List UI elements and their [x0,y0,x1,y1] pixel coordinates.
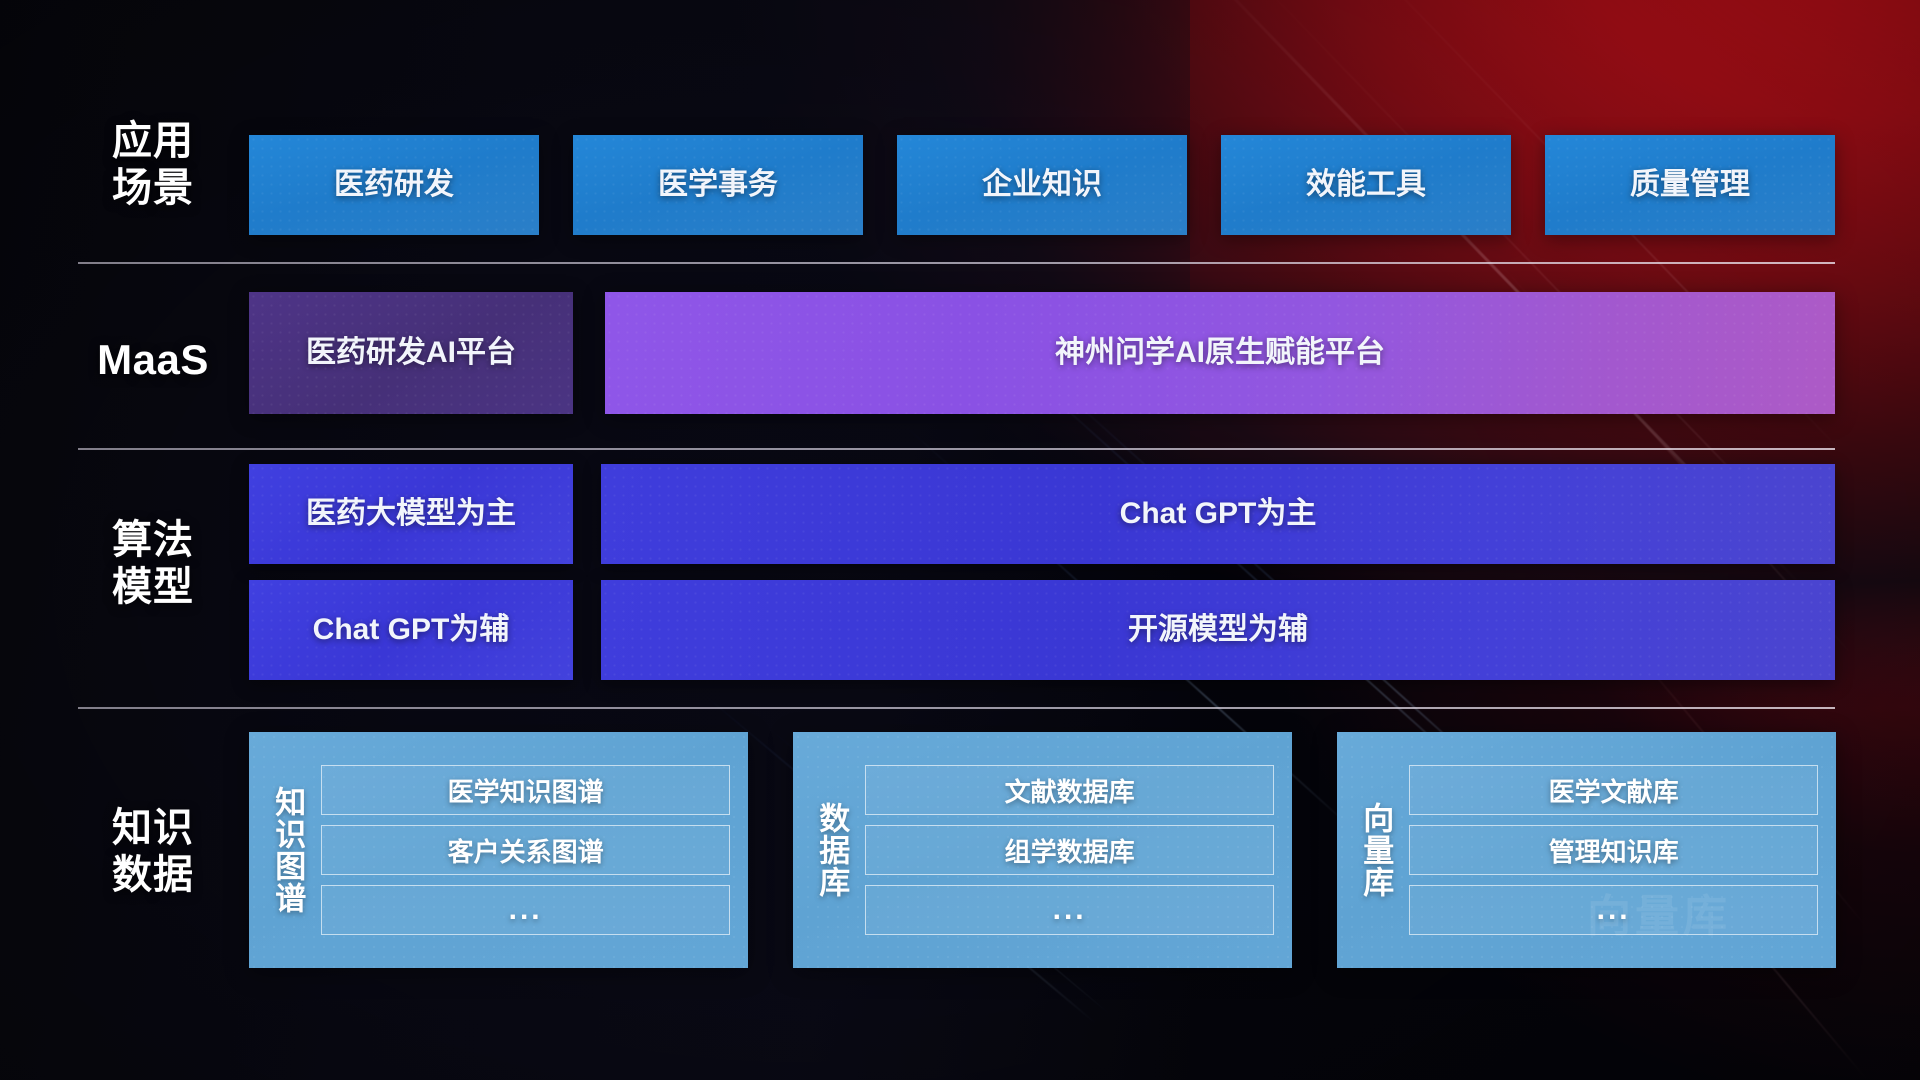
maas-card-pharma-platform[interactable]: 医药研发AI平台 [249,292,573,414]
algorithm-card-opensource-secondary-label: 开源模型为辅 [1128,612,1308,648]
row-label-maas: MaaS [78,335,228,385]
scenario-card-3[interactable]: 企业知识 [897,135,1187,235]
scenario-card-5-label: 质量管理 [1630,167,1750,203]
scenario-card-2[interactable]: 医学事务 [573,135,863,235]
maas-card-pharma-platform-label: 医药研发AI平台 [306,335,516,371]
scenario-card-3-label: 企业知识 [982,167,1102,203]
knowledge-item-database-1[interactable]: 文献数据库 [865,765,1274,815]
algorithm-card-chatgpt-primary-label: Chat GPT为主 [1120,496,1317,532]
knowledge-item-vector-1[interactable]: 医学文献库 [1409,765,1818,815]
divider-algorithm-knowledge [78,707,1835,709]
scenario-card-2-label: 医学事务 [658,167,778,203]
algorithm-card-opensource-secondary[interactable]: 开源模型为辅 [601,580,1835,680]
scenario-card-4[interactable]: 效能工具 [1221,135,1511,235]
knowledge-panel-vector[interactable]: 向量库 向量库 医学文献库 管理知识库 ... [1337,732,1836,968]
row-label-knowledge: 知识 数据 [78,805,228,899]
knowledge-item-vector-2[interactable]: 管理知识库 [1409,825,1818,875]
algorithm-card-pharma-model-label: 医药大模型为主 [306,496,516,532]
row-label-algorithm: 算法 模型 [78,517,228,611]
knowledge-panel-graph[interactable]: 知识图谱 医学知识图谱 客户关系图谱 ... [249,732,748,968]
maas-card-shenzhou-platform-label: 神州问学AI原生赋能平台 [1055,335,1385,371]
knowledge-item-database-3[interactable]: ... [865,885,1274,935]
scenario-card-1-label: 医药研发 [334,167,454,203]
divider-scenario-maas [78,262,1835,264]
knowledge-item-database-2[interactable]: 组学数据库 [865,825,1274,875]
algorithm-card-chatgpt-primary[interactable]: Chat GPT为主 [601,464,1835,564]
architecture-diagram: 应用 场景 医药研发 医学事务 企业知识 效能工具 质量管理 MaaS 医药研发… [0,0,1920,1080]
knowledge-panel-database-items: 文献数据库 组学数据库 ... [865,765,1274,935]
scenario-card-1[interactable]: 医药研发 [249,135,539,235]
knowledge-panel-vector-items: 医学文献库 管理知识库 ... [1409,765,1818,935]
scenario-card-4-label: 效能工具 [1306,167,1426,203]
knowledge-item-vector-3[interactable]: ... [1409,885,1818,935]
knowledge-panel-database-title: 数据库 [815,755,847,945]
maas-card-shenzhou-platform[interactable]: 神州问学AI原生赋能平台 [605,292,1835,414]
knowledge-item-graph-1[interactable]: 医学知识图谱 [321,765,730,815]
algorithm-card-pharma-model[interactable]: 医药大模型为主 [249,464,573,564]
knowledge-item-graph-2[interactable]: 客户关系图谱 [321,825,730,875]
knowledge-panel-graph-title: 知识图谱 [271,755,303,945]
knowledge-panel-database[interactable]: 数据库 文献数据库 组学数据库 ... [793,732,1292,968]
scenario-card-5[interactable]: 质量管理 [1545,135,1835,235]
knowledge-item-graph-3[interactable]: ... [321,885,730,935]
algorithm-card-chatgpt-secondary[interactable]: Chat GPT为辅 [249,580,573,680]
divider-maas-algorithm [78,448,1835,450]
algorithm-card-chatgpt-secondary-label: Chat GPT为辅 [313,612,510,648]
row-label-scenario: 应用 场景 [78,118,228,212]
knowledge-panel-vector-title: 向量库 [1359,755,1391,945]
knowledge-panel-graph-items: 医学知识图谱 客户关系图谱 ... [321,765,730,935]
